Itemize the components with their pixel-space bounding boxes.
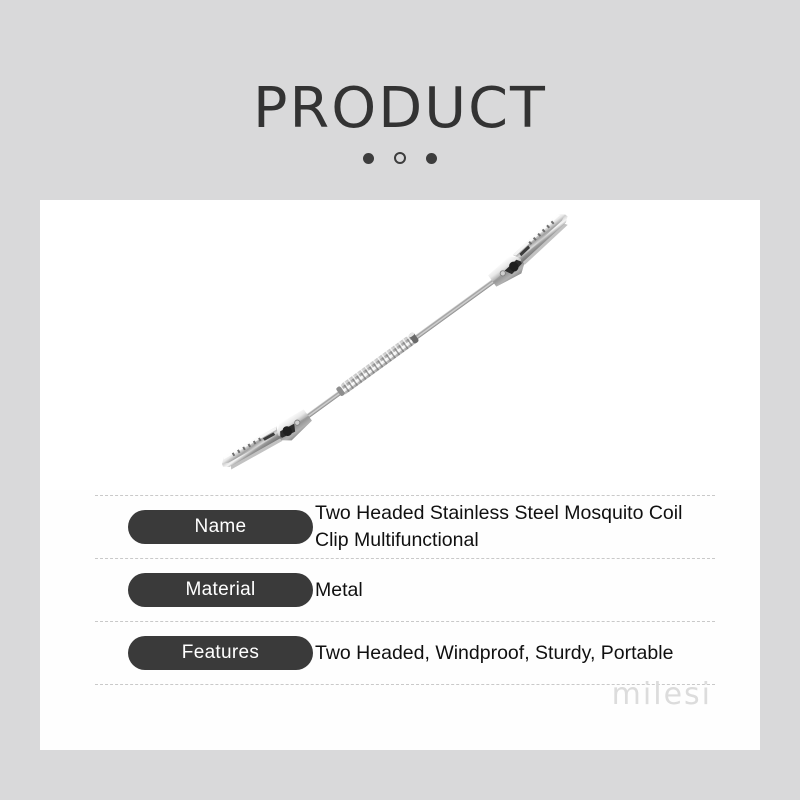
page-header: PRODUCT INFORMATION <box>0 0 800 200</box>
product-info-card: Name Two Headed Stainless Steel Mosquito… <box>40 200 760 750</box>
spec-value-name: Two Headed Stainless Steel Mosquito Coil… <box>313 500 715 554</box>
spec-value-features: Two Headed, Windproof, Sturdy, Portable <box>313 640 715 667</box>
decorative-dots <box>0 152 800 164</box>
dot-indicator-1 <box>363 153 374 164</box>
spec-label-features: Features <box>128 636 313 670</box>
table-row: Name Two Headed Stainless Steel Mosquito… <box>95 495 715 559</box>
dot-indicator-3 <box>426 153 437 164</box>
product-clip-illustration <box>40 200 760 490</box>
spec-label-material: Material <box>128 573 313 607</box>
table-row: Features Two Headed, Windproof, Sturdy, … <box>95 622 715 685</box>
page-title-line-1: PRODUCT <box>0 80 800 138</box>
table-row: Material Metal <box>95 559 715 622</box>
spec-label-name: Name <box>128 510 313 544</box>
dot-indicator-2 <box>394 152 406 164</box>
specification-table: Name Two Headed Stainless Steel Mosquito… <box>95 495 715 685</box>
product-photo <box>40 200 760 490</box>
spec-value-material: Metal <box>313 577 715 604</box>
